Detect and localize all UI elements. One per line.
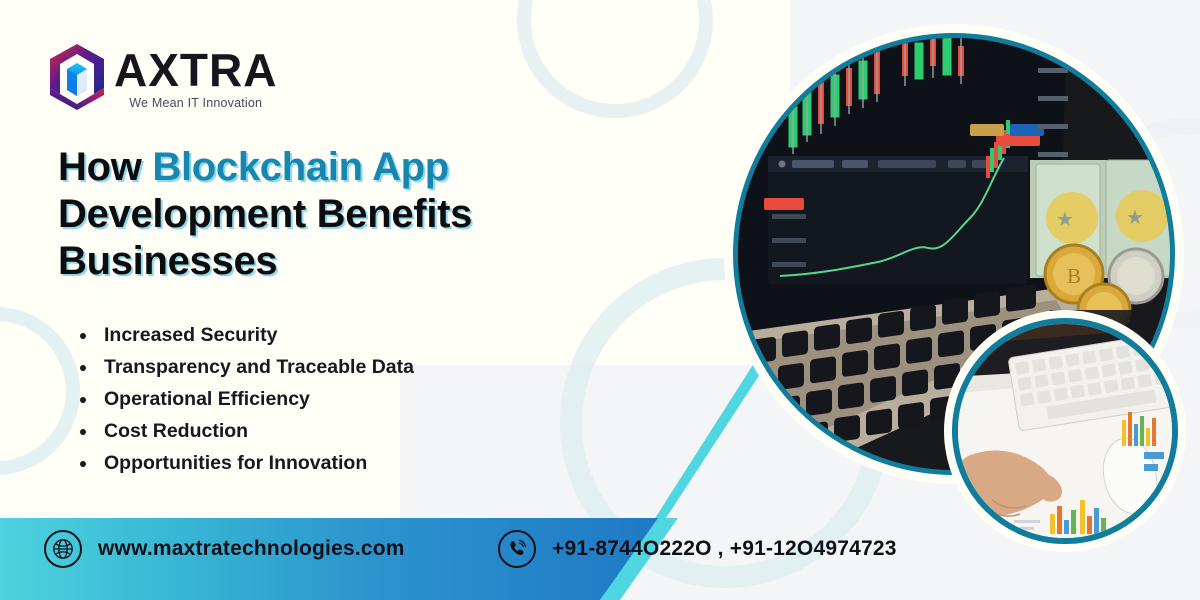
- list-item: Cost Reduction: [78, 422, 414, 442]
- logo-tagline: We Mean IT Innovation: [114, 96, 277, 110]
- svg-text:★: ★: [1056, 209, 1074, 231]
- headline-highlight: Blockchain App: [152, 145, 449, 189]
- blockchain-banner: AXTRA We Mean IT Innovation How Blockcha…: [0, 0, 1200, 600]
- maxtra-hexagon-logo-icon: [44, 42, 110, 112]
- globe-icon: [44, 530, 82, 568]
- logo-wordmark: AXTRA: [114, 47, 277, 93]
- desk-charts-photo: [952, 318, 1178, 544]
- headline-line2: Development Benefits: [58, 192, 472, 236]
- svg-text:★: ★: [1126, 207, 1144, 229]
- benefits-list: Increased Security Transparency and Trac…: [78, 326, 414, 486]
- footer-website[interactable]: www.maxtratechnologies.com: [44, 530, 405, 568]
- phone-numbers[interactable]: +91-8744O222O , +91-12O4974723: [552, 537, 897, 561]
- phone-ringing-icon: [498, 530, 536, 568]
- list-item: Operational Efficiency: [78, 390, 414, 410]
- list-item: Transparency and Traceable Data: [78, 358, 414, 378]
- list-item: Opportunities for Innovation: [78, 454, 414, 474]
- footer-phone[interactable]: +91-8744O222O , +91-12O4974723: [498, 530, 897, 568]
- page-title: How Blockchain App Development Benefits …: [58, 144, 658, 286]
- website-url[interactable]: www.maxtratechnologies.com: [98, 537, 405, 561]
- svg-text:B: B: [1067, 264, 1081, 288]
- brand-logo[interactable]: AXTRA We Mean IT Innovation: [44, 42, 277, 112]
- headline-line3: Businesses: [58, 239, 277, 283]
- list-item: Increased Security: [78, 326, 414, 346]
- headline-line1-prefix: How: [58, 145, 152, 189]
